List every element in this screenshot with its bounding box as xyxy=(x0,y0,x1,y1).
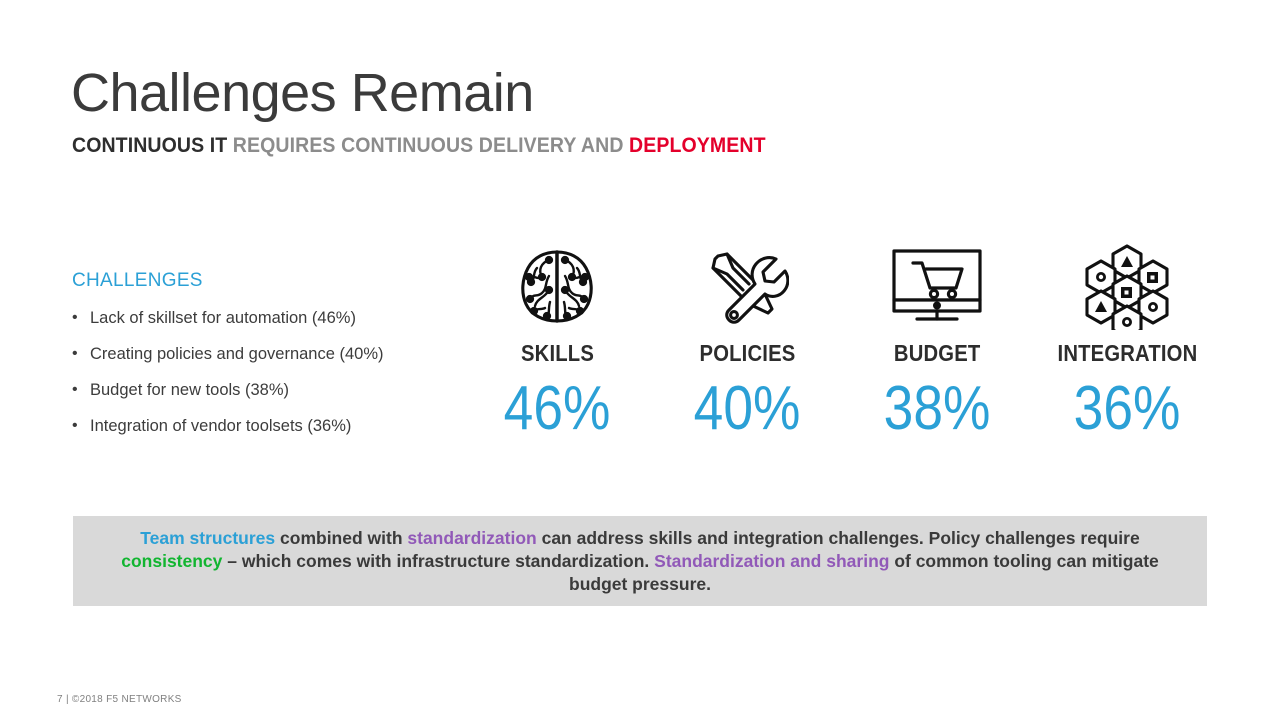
stat-label: INTEGRATION xyxy=(1057,340,1197,367)
brain-icon xyxy=(515,240,599,332)
subtitle-red: DEPLOYMENT xyxy=(629,134,766,157)
challenges-list: • Lack of skillset for automation (46%) … xyxy=(72,305,472,449)
callout-segment: standardization xyxy=(407,528,536,548)
stat-skills: SKILLS 46% xyxy=(462,240,652,443)
bullet-icon: • xyxy=(72,305,90,331)
list-item: • Creating policies and governance (40%) xyxy=(72,341,472,377)
callout-segment: consistency xyxy=(121,551,222,571)
stat-value: 40% xyxy=(694,375,801,443)
callout-segment: Team structures xyxy=(140,528,275,548)
stat-value: 38% xyxy=(884,375,991,443)
list-item-label: Creating policies and governance (40%) xyxy=(90,341,384,367)
list-item-label: Lack of skillset for automation (46%) xyxy=(90,305,356,331)
page-subtitle: CONTINUOUS IT REQUIRES CONTINUOUS DELIVE… xyxy=(72,133,766,159)
stat-label: SKILLS xyxy=(520,340,593,367)
callout-box: Team structures combined with standardiz… xyxy=(73,516,1207,606)
list-item-label: Budget for new tools (38%) xyxy=(90,377,289,403)
callout-segment: combined with xyxy=(275,528,407,548)
page-title: Challenges Remain xyxy=(71,62,534,124)
tools-icon xyxy=(705,240,789,332)
stat-budget: BUDGET 38% xyxy=(842,240,1032,443)
callout-segment: – which comes with infrastructure standa… xyxy=(222,551,654,571)
stat-policies: POLICIES 40% xyxy=(652,240,842,443)
list-item: • Integration of vendor toolsets (36%) xyxy=(72,413,472,449)
list-item: • Lack of skillset for automation (46%) xyxy=(72,305,472,341)
stats-row: SKILLS 46% POLICIES 40% xyxy=(462,240,1222,443)
callout-segment: Standardization and sharing xyxy=(654,551,889,571)
slide-footer: 7 | ©2018 F5 NETWORKS xyxy=(57,694,182,705)
callout-segment: can address skills and integration chall… xyxy=(537,528,1140,548)
stat-value: 46% xyxy=(504,375,611,443)
challenges-heading: CHALLENGES xyxy=(72,270,203,292)
monitor-cart-icon xyxy=(889,240,985,332)
honeycomb-icon xyxy=(1081,240,1173,332)
subtitle-strong: CONTINUOUS IT xyxy=(72,134,227,157)
stat-integration: INTEGRATION 36% xyxy=(1032,240,1222,443)
bullet-icon: • xyxy=(72,341,90,367)
bullet-icon: • xyxy=(72,377,90,403)
stat-label: POLICIES xyxy=(699,340,795,367)
subtitle-gray: REQUIRES CONTINUOUS DELIVERY AND xyxy=(227,134,629,157)
bullet-icon: • xyxy=(72,413,90,439)
stat-value: 36% xyxy=(1074,375,1181,443)
callout-text: Team structures combined with standardiz… xyxy=(97,527,1183,596)
stat-label: BUDGET xyxy=(894,340,981,367)
list-item-label: Integration of vendor toolsets (36%) xyxy=(90,413,351,439)
list-item: • Budget for new tools (38%) xyxy=(72,377,472,413)
